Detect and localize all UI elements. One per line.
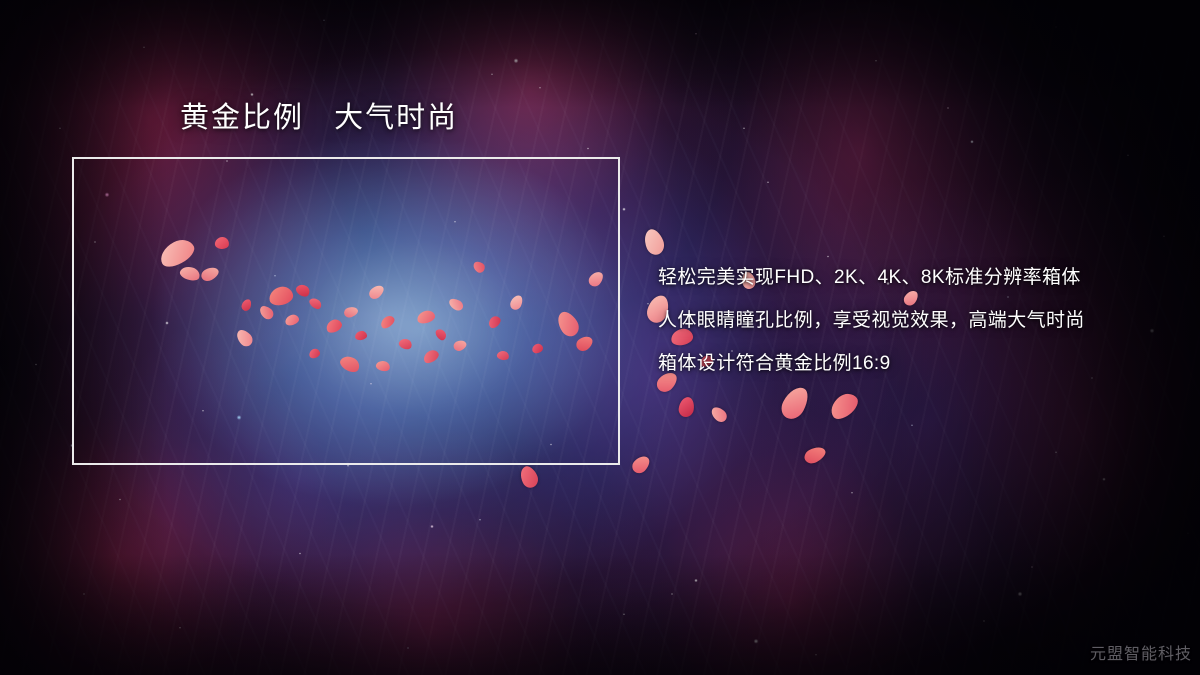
- page-title: 黄金比例 大气时尚: [180, 101, 458, 136]
- preview-frame-panel[interactable]: [72, 157, 620, 465]
- body-copy-line-2: 人体眼睛瞳孔比例，享受视觉效果，高端大气时尚: [658, 299, 1178, 342]
- preview-frame-artwork: [72, 157, 620, 465]
- body-copy-line-3: 箱体设计符合黄金比例16:9: [658, 342, 1178, 385]
- preview-frame-inner: [73, 158, 619, 464]
- body-copy-block: 轻松完美实现FHD、2K、4K、8K标准分辨率箱体 人体眼睛瞳孔比例，享受视觉效…: [658, 256, 1178, 385]
- watermark-text: 元盟智能科技: [1090, 640, 1192, 664]
- slide-canvas: 黄金比例 大气时尚 轻松完美实现FHD、2K、4K、8K标准分辨率箱体 人体眼睛…: [0, 0, 1200, 675]
- body-copy-line-1: 轻松完美实现FHD、2K、4K、8K标准分辨率箱体: [658, 256, 1178, 299]
